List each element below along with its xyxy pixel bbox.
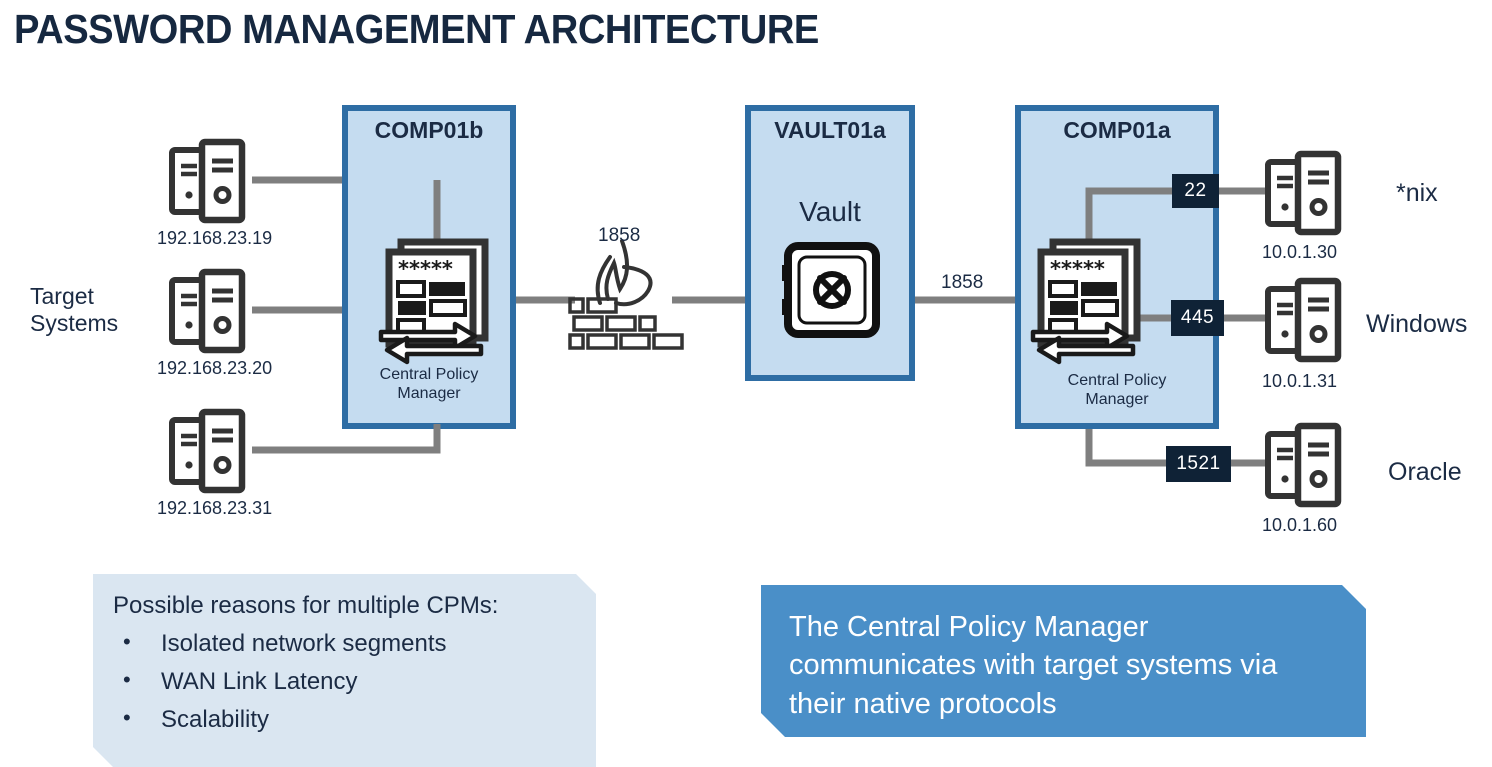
- firewall-port-label: 1858: [598, 225, 640, 247]
- callout-native-protocols-text: The Central Policy Manager communicates …: [789, 608, 1338, 723]
- os-label-oracle: Oracle: [1388, 458, 1462, 487]
- os-label-windows: Windows: [1366, 310, 1467, 339]
- central-policy-manager-icon-comp01b: [381, 242, 485, 362]
- server-icon-192-168-23-20: [172, 272, 242, 350]
- vault-to-comp01a-port-label: 1858: [941, 272, 983, 294]
- server-icon-192-168-23-19: [172, 142, 242, 220]
- callout-list-item: Isolated network segments: [113, 630, 576, 658]
- ip-label-192-168-23-31: 192.168.23.31: [157, 498, 272, 519]
- callout-multiple-cpms-heading: Possible reasons for multiple CPMs:: [113, 592, 576, 620]
- central-policy-manager-icon-comp01a: [1033, 242, 1137, 362]
- ip-label-10-0-1-30: 10.0.1.30: [1262, 242, 1337, 263]
- callout-list-item: Scalability: [113, 706, 576, 734]
- os-label-nix: *nix: [1396, 179, 1438, 208]
- callout-native-protocols: The Central Policy Manager communicates …: [761, 585, 1366, 737]
- port-badge-22[interactable]: 22: [1172, 174, 1219, 208]
- callout-list-item: WAN Link Latency: [113, 668, 576, 696]
- callout-multiple-cpms: Possible reasons for multiple CPMs: Isol…: [93, 574, 596, 767]
- ip-label-192-168-23-20: 192.168.23.20: [157, 358, 272, 379]
- comp01a-title: COMP01a: [1018, 117, 1216, 144]
- server-icon-10-0-1-60: [1268, 426, 1338, 504]
- ip-label-10-0-1-60: 10.0.1.60: [1262, 515, 1337, 536]
- port-badge-1521[interactable]: 1521: [1166, 446, 1231, 482]
- firewall-flame-icon: [570, 241, 682, 348]
- port-badge-445[interactable]: 445: [1171, 300, 1224, 336]
- ip-label-192-168-23-19: 192.168.23.19: [157, 228, 272, 249]
- callout-multiple-cpms-list: Isolated network segments WAN Link Laten…: [113, 630, 576, 734]
- server-icon-10-0-1-30: [1268, 154, 1338, 232]
- comp01a-cpm-caption: Central Policy Manager: [1018, 372, 1216, 410]
- vault-word-label: Vault: [748, 196, 912, 228]
- server-icon-10-0-1-31: [1268, 281, 1338, 359]
- comp01b-cpm-caption: Central Policy Manager: [345, 366, 513, 404]
- server-icon-192-168-23-31: [172, 412, 242, 490]
- vault01a-title: VAULT01a: [748, 117, 912, 144]
- connector-comp01a-to-port1521: [1089, 424, 1166, 463]
- ip-label-10-0-1-31: 10.0.1.31: [1262, 371, 1337, 392]
- comp01b-title: COMP01b: [345, 117, 513, 144]
- target-systems-label: Target Systems: [30, 283, 118, 337]
- slide-canvas: PASSWORD MANAGEMENT ARCHITECTURE: [0, 0, 1492, 767]
- safe-vault-icon: [782, 246, 876, 334]
